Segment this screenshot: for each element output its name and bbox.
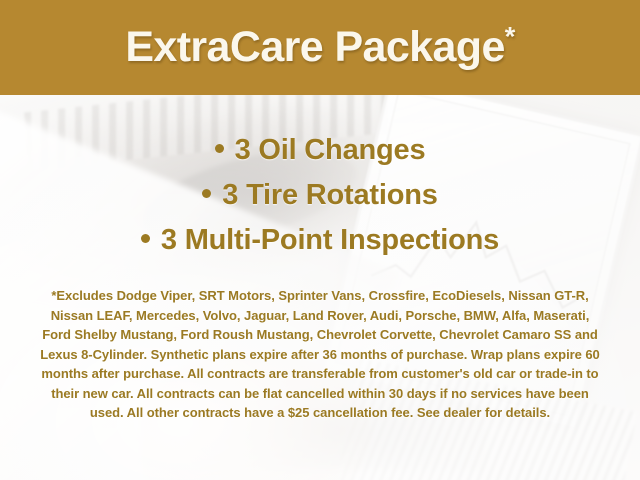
benefit-item-multi-point-inspections: 3 Multi-Point Inspections (0, 226, 640, 255)
header-band: ExtraCare Package* (0, 0, 640, 95)
benefit-item-tire-rotations: 3 Tire Rotations (0, 181, 640, 210)
page-title: ExtraCare Package* (125, 26, 514, 69)
benefit-item-label: 3 Oil Changes (235, 134, 426, 166)
bullet-dot-icon (141, 234, 150, 243)
benefit-item-label: 3 Tire Rotations (222, 179, 437, 211)
bullet-dot-icon (215, 144, 224, 153)
benefit-item-oil-changes: 3 Oil Changes (0, 136, 640, 165)
page-title-text: ExtraCare Package (125, 23, 504, 71)
extracare-promo-card: ExtraCare Package* 3 Oil Changes 3 Tire … (0, 0, 640, 480)
bullet-dot-icon (202, 189, 211, 198)
page-title-asterisk: * (505, 22, 515, 52)
benefits-list: 3 Oil Changes 3 Tire Rotations 3 Multi-P… (0, 136, 640, 255)
benefit-item-label: 3 Multi-Point Inspections (161, 224, 499, 256)
disclaimer-text: *Excludes Dodge Viper, SRT Motors, Sprin… (36, 286, 604, 423)
